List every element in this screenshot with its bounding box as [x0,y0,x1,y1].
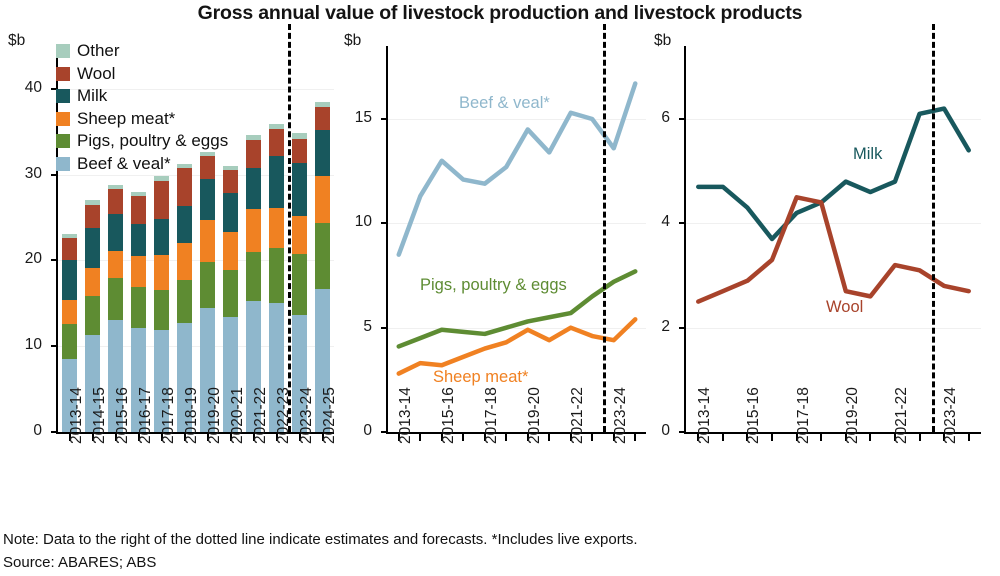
x-axis-tick-label: 2023-24 [298,387,316,444]
legend-item-wool[interactable]: Wool [56,63,228,86]
bar-segment[interactable] [269,129,283,156]
x-axis-tick [820,434,822,441]
bar-segment[interactable] [223,193,237,232]
legend-swatch-icon [56,44,70,58]
x-axis-tick-label: 2019-20 [844,387,862,444]
y-axis-tick [679,118,686,120]
chart-panel-milk-wool-lines: $b 02462013-142015-162017-182019-202021-… [648,0,1000,540]
legend-item-label: Pigs, poultry & eggs [77,131,228,151]
bar-segment[interactable] [108,278,122,320]
forecast-divider-line [288,24,291,432]
series-annotation-label: Beef & veal* [459,94,550,113]
x-axis-tick [722,434,724,441]
line-series-milk[interactable] [698,109,968,239]
x-axis-tick-label: 2017-18 [483,387,501,444]
x-axis-tick-label: 2015-16 [114,387,132,444]
legend-swatch-icon [56,157,70,171]
bar-segment[interactable] [292,254,306,316]
series-annotation-label: Milk [853,145,882,164]
x-axis-tick [968,434,970,441]
chart-panel-stacked-bar: $b 0102030402013-142014-152015-162016-17… [0,0,340,540]
x-axis-tick-label: 2020-21 [229,387,247,444]
bar-segment[interactable] [200,179,214,220]
legend-item-label: Sheep meat* [77,109,175,129]
x-axis-tick [591,434,593,441]
y-axis-tick [679,222,686,224]
x-axis-tick-label: 2016-17 [137,387,155,444]
line-series-sheep-meat[interactable] [399,319,636,373]
y-axis-tick-label: 5 [332,318,372,336]
bar-segment[interactable] [177,243,191,280]
y-axis-unit-label-3: $b [654,32,671,50]
x-axis-tick [771,434,773,441]
legend-swatch-icon [56,67,70,81]
legend-item-label: Other [77,41,120,61]
series-annotation-label: Pigs, poultry & eggs [420,276,567,295]
bar-segment[interactable] [269,156,283,208]
x-axis-tick [419,434,421,441]
footnote-note: Note: Data to the right of the dotted li… [3,528,638,551]
x-axis-tick [548,434,550,441]
bar-segment[interactable] [315,107,329,130]
y-axis-tick-label: 6 [630,109,670,127]
x-axis-tick-label: 2013-14 [68,387,86,444]
y-axis-tick [381,431,388,433]
legend-item-milk[interactable]: Milk [56,85,228,108]
bar-segment[interactable] [62,234,76,238]
bar-segment[interactable] [154,176,168,180]
x-axis-tick-label: 2018-19 [183,387,201,444]
plot-area-2: 0510152013-142015-162017-182019-202021-2… [388,46,646,432]
forecast-divider-line [932,24,935,432]
y-axis-tick-label: 40 [2,79,42,97]
series-annotation-label: Wool [826,298,863,317]
bar-segment[interactable] [246,252,260,301]
bar-segment[interactable] [246,135,260,140]
bar-segment[interactable] [131,192,145,196]
bar-segment[interactable] [108,251,122,278]
chart-panel-meat-lines: $b 0510152013-142015-162017-182019-20202… [338,0,656,540]
x-axis-tick-label: 2023-24 [612,387,630,444]
footnote-source: Source: ABARES; ABS [3,551,638,574]
bar-segment[interactable] [62,238,76,259]
x-axis-tick-label: 2023-24 [942,387,960,444]
bar-segment[interactable] [200,262,214,307]
y-axis-tick-label: 10 [2,336,42,354]
bar-segment[interactable] [62,260,76,300]
bar-segment[interactable] [154,290,168,330]
bar-segment[interactable] [292,216,306,254]
gridline [58,346,334,347]
chart-legend: OtherWoolMilkSheep meat*Pigs, poultry & … [56,40,228,175]
bar-segment[interactable] [85,268,99,296]
x-axis-tick [869,434,871,441]
legend-item-pigs-poultry-eggs[interactable]: Pigs, poultry & eggs [56,130,228,153]
bar-segment[interactable] [85,200,99,204]
bar-segment[interactable] [154,181,168,220]
bar-segment[interactable] [292,139,306,163]
line-series-group [686,46,981,434]
x-axis-tick-label: 2013-14 [397,387,415,444]
legend-item-label: Milk [77,86,107,106]
x-axis-tick-label: 2021-22 [569,387,587,444]
x-axis-tick-label: 2014-15 [91,387,109,444]
bar-segment[interactable] [131,287,145,328]
y-axis-tick [51,431,58,433]
bar-segment[interactable] [246,209,260,252]
bar-segment[interactable] [62,324,76,359]
bar-segment[interactable] [269,124,283,129]
bar-segment[interactable] [108,214,122,251]
bar-segment[interactable] [108,185,122,189]
x-axis-tick-label: 2015-16 [440,387,458,444]
x-axis-tick [919,434,921,441]
y-axis-tick [381,222,388,224]
x-axis-tick-label: 2019-20 [206,387,224,444]
bar-segment[interactable] [85,296,99,335]
line-series-wool[interactable] [698,197,968,301]
bar-segment[interactable] [315,130,329,176]
bar-segment[interactable] [131,224,145,256]
bar-segment[interactable] [246,140,260,167]
bar-segment[interactable] [154,219,168,255]
y-axis-tick-label: 4 [630,213,670,231]
x-axis-tick-label: 2013-14 [696,387,714,444]
bar-segment[interactable] [315,102,329,107]
legend-item-label: Wool [77,64,115,84]
bar-segment[interactable] [292,163,306,216]
bar-segment[interactable] [223,270,237,317]
legend-item-other[interactable]: Other [56,40,228,63]
x-axis-tick-label: 2017-18 [160,387,178,444]
y-axis-tick [679,327,686,329]
bar-segment[interactable] [269,248,283,304]
y-axis-tick-label: 0 [630,422,670,440]
legend-swatch-icon [56,89,70,103]
bar-segment[interactable] [177,280,191,323]
y-axis-tick-label: 30 [2,165,42,183]
gridline [58,260,334,261]
series-annotation-label: Sheep meat* [433,368,528,387]
legend-swatch-icon [56,112,70,126]
y-axis-tick [381,327,388,329]
plot-area-3: 02462013-142015-162017-182019-202021-222… [686,46,981,432]
bar-segment[interactable] [292,133,306,138]
legend-item-sheep-meat[interactable]: Sheep meat* [56,108,228,131]
y-axis-tick-label: 15 [332,109,372,127]
y-axis-tick-label: 0 [2,422,42,440]
y-axis-tick [51,259,58,261]
bar-segment[interactable] [269,208,283,247]
x-axis-tick [505,434,507,441]
y-axis-tick [679,431,686,433]
bar-segment[interactable] [315,176,329,222]
bar-segment[interactable] [108,189,122,214]
legend-item-label: Beef & veal* [77,154,171,174]
x-axis-tick-label: 2017-18 [795,387,813,444]
y-axis-tick [51,345,58,347]
x-axis-tick-label: 2015-16 [745,387,763,444]
bar-segment[interactable] [223,232,237,270]
y-axis-tick-label: 2 [630,318,670,336]
bar-segment[interactable] [131,196,145,224]
bar-segment[interactable] [315,223,329,289]
y-axis-tick-label: 0 [332,422,372,440]
x-axis-tick-label: 2021-22 [252,387,270,444]
y-axis-unit-label-2: $b [344,32,361,50]
legend-swatch-icon [56,134,70,148]
y-axis-tick [381,118,388,120]
y-axis-tick-label: 20 [2,250,42,268]
bar-segment[interactable] [200,220,214,262]
y-axis-unit-label-1: $b [8,32,25,50]
x-axis-tick-label: 2021-22 [893,387,911,444]
bar-segment[interactable] [85,205,99,228]
forecast-divider-line [603,24,606,432]
y-axis-tick-label: 10 [332,213,372,231]
bar-segment[interactable] [177,206,191,244]
legend-item-beef-veal[interactable]: Beef & veal* [56,153,228,176]
x-axis-tick [462,434,464,441]
footnote: Note: Data to the right of the dotted li… [3,528,638,575]
x-axis-tick-label: 2019-20 [526,387,544,444]
bar-segment[interactable] [85,228,99,268]
bar-segment[interactable] [62,300,76,324]
